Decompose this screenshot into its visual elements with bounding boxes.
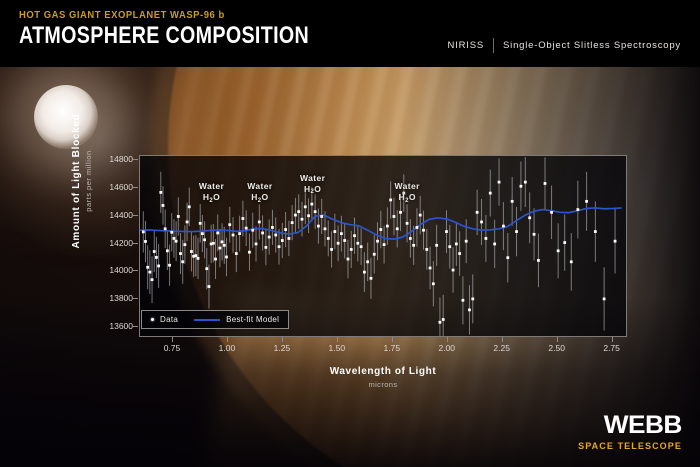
legend-item-data: Data — [151, 315, 178, 324]
x-axis-units: microns — [139, 380, 627, 389]
x-tick-label: 2.25 — [493, 343, 510, 353]
y-tick-mark — [133, 326, 138, 327]
page-title: ATMOSPHERE COMPOSITION — [19, 22, 309, 50]
x-tick-mark — [282, 337, 283, 342]
x-tick-mark — [337, 337, 338, 342]
header-kicker: HOT GAS GIANT EXOPLANET WASP-96 b — [19, 9, 225, 21]
legend-label-data: Data — [160, 315, 178, 324]
annotation-label: Water — [247, 181, 272, 191]
infographic-canvas: HOT GAS GIANT EXOPLANET WASP-96 b ATMOSP… — [0, 0, 700, 467]
x-tick-mark — [612, 337, 613, 342]
water-annotation: WaterH2O — [300, 173, 325, 195]
x-tick-label: 1.75 — [384, 343, 401, 353]
x-tick-label: 2.00 — [438, 343, 455, 353]
water-annotation: WaterH2O — [395, 181, 420, 203]
x-tick-mark — [502, 337, 503, 342]
water-annotation: WaterH2O — [247, 181, 272, 203]
annotation-label: Water — [395, 181, 420, 191]
y-tick-mark — [133, 298, 138, 299]
x-tick-mark — [227, 337, 228, 342]
annotation-formula: H2O — [251, 192, 268, 202]
instrument-mode: Single-Object Slitless Spectroscopy — [503, 40, 681, 51]
webb-logo: WEBB SPACE TELESCOPE — [578, 411, 682, 451]
x-tick-mark — [392, 337, 393, 342]
y-tick-mark — [133, 187, 138, 188]
x-tick-mark — [557, 337, 558, 342]
instrument-info: NIRISS Single-Object Slitless Spectrosco… — [448, 38, 681, 53]
data-point-icon — [151, 318, 154, 321]
annotation-label: Water — [199, 181, 224, 191]
x-tick-label: 0.75 — [164, 343, 181, 353]
y-tick-mark — [133, 243, 138, 244]
chart-legend: Data Best-fit Model — [141, 310, 289, 329]
x-tick-label: 1.50 — [329, 343, 346, 353]
header-bar: HOT GAS GIANT EXOPLANET WASP-96 b ATMOSP… — [0, 0, 700, 67]
y-tick-mark — [133, 215, 138, 216]
instrument-name: NIRISS — [448, 40, 484, 51]
annotation-formula: H2O — [304, 184, 321, 194]
x-tick-mark — [447, 337, 448, 342]
x-tick-label: 2.50 — [548, 343, 565, 353]
legend-label-model: Best-fit Model — [226, 315, 279, 324]
x-tick-mark — [172, 337, 173, 342]
legend-item-model: Best-fit Model — [194, 315, 279, 324]
instrument-divider — [493, 38, 494, 53]
webb-logo-primary: WEBB — [573, 411, 682, 440]
annotation-formula: H2O — [399, 192, 416, 202]
annotation-label: Water — [300, 173, 325, 183]
webb-logo-secondary: SPACE TELESCOPE — [578, 441, 682, 451]
spectrum-chart: Amount of Light Blocked parts per millio… — [0, 0, 700, 467]
x-tick-label: 1.25 — [274, 343, 291, 353]
x-axis-label: Wavelength of Light microns — [139, 366, 627, 389]
annotation-formula: H2O — [203, 192, 220, 202]
x-axis-title: Wavelength of Light — [139, 366, 627, 377]
y-tick-mark — [133, 270, 138, 271]
x-tick-label: 2.75 — [603, 343, 620, 353]
x-tick-label: 1.00 — [219, 343, 236, 353]
model-line-icon — [194, 319, 220, 321]
water-annotation: WaterH2O — [199, 181, 224, 203]
y-tick-mark — [133, 159, 138, 160]
